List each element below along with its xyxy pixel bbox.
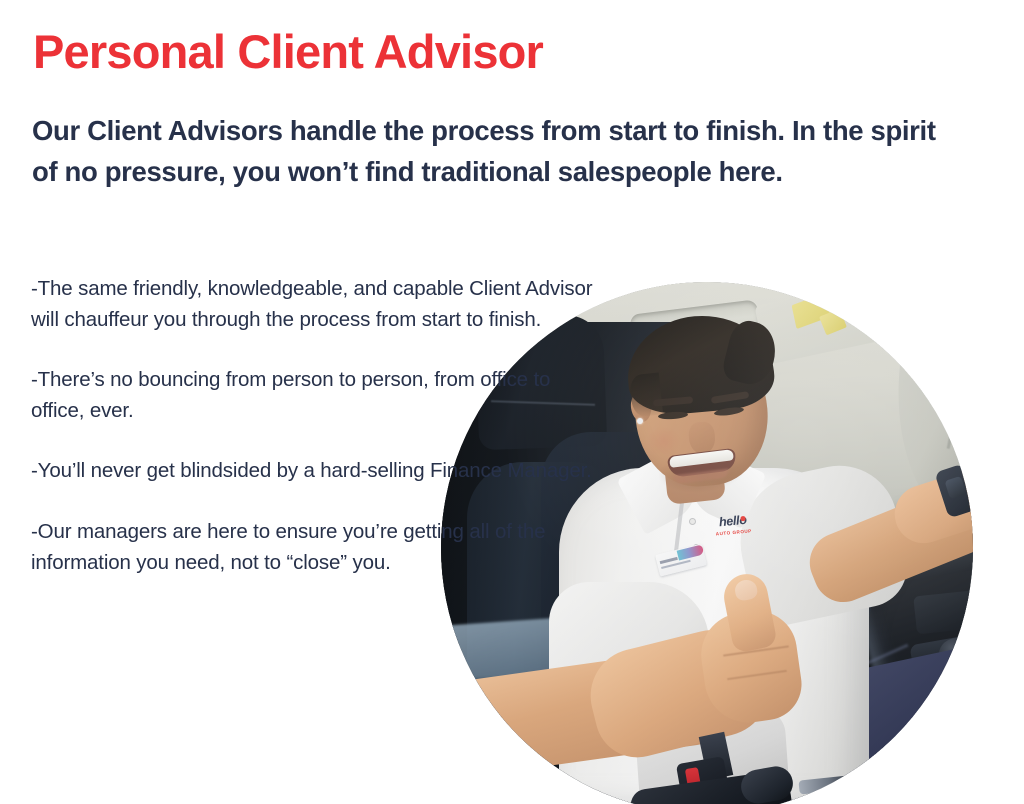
finger [996, 495, 1024, 514]
slide-canvas: hello AUTO GROUP [0, 0, 1024, 804]
finger [1006, 482, 1024, 502]
turn-signal-stalk [996, 613, 1024, 645]
right-hand-on-wheel [978, 455, 1024, 523]
cheek-highlight [647, 426, 681, 456]
hello-logo-wordmark: hello [718, 514, 747, 529]
benefits-list: -The same friendly, knowledgeable, and c… [31, 274, 606, 578]
page-title: Personal Client Advisor [33, 24, 543, 80]
polo-button [689, 518, 696, 525]
list-item: -You’ll never get blindsided by a hard-s… [31, 456, 606, 487]
list-item: -There’s no bouncing from person to pers… [31, 365, 606, 426]
hello-logo: hello AUTO GROUP [714, 511, 752, 536]
hello-logo-dot [741, 516, 746, 521]
pillar-seam [947, 301, 979, 449]
subheading: Our Client Advisors handle the process f… [32, 110, 952, 192]
text-column: Personal Client Advisor Our Client Advis… [0, 0, 640, 804]
list-item: -Our managers are here to ensure you’re … [31, 517, 606, 578]
list-item: -The same friendly, knowledgeable, and c… [31, 274, 606, 335]
finger [1001, 509, 1024, 525]
